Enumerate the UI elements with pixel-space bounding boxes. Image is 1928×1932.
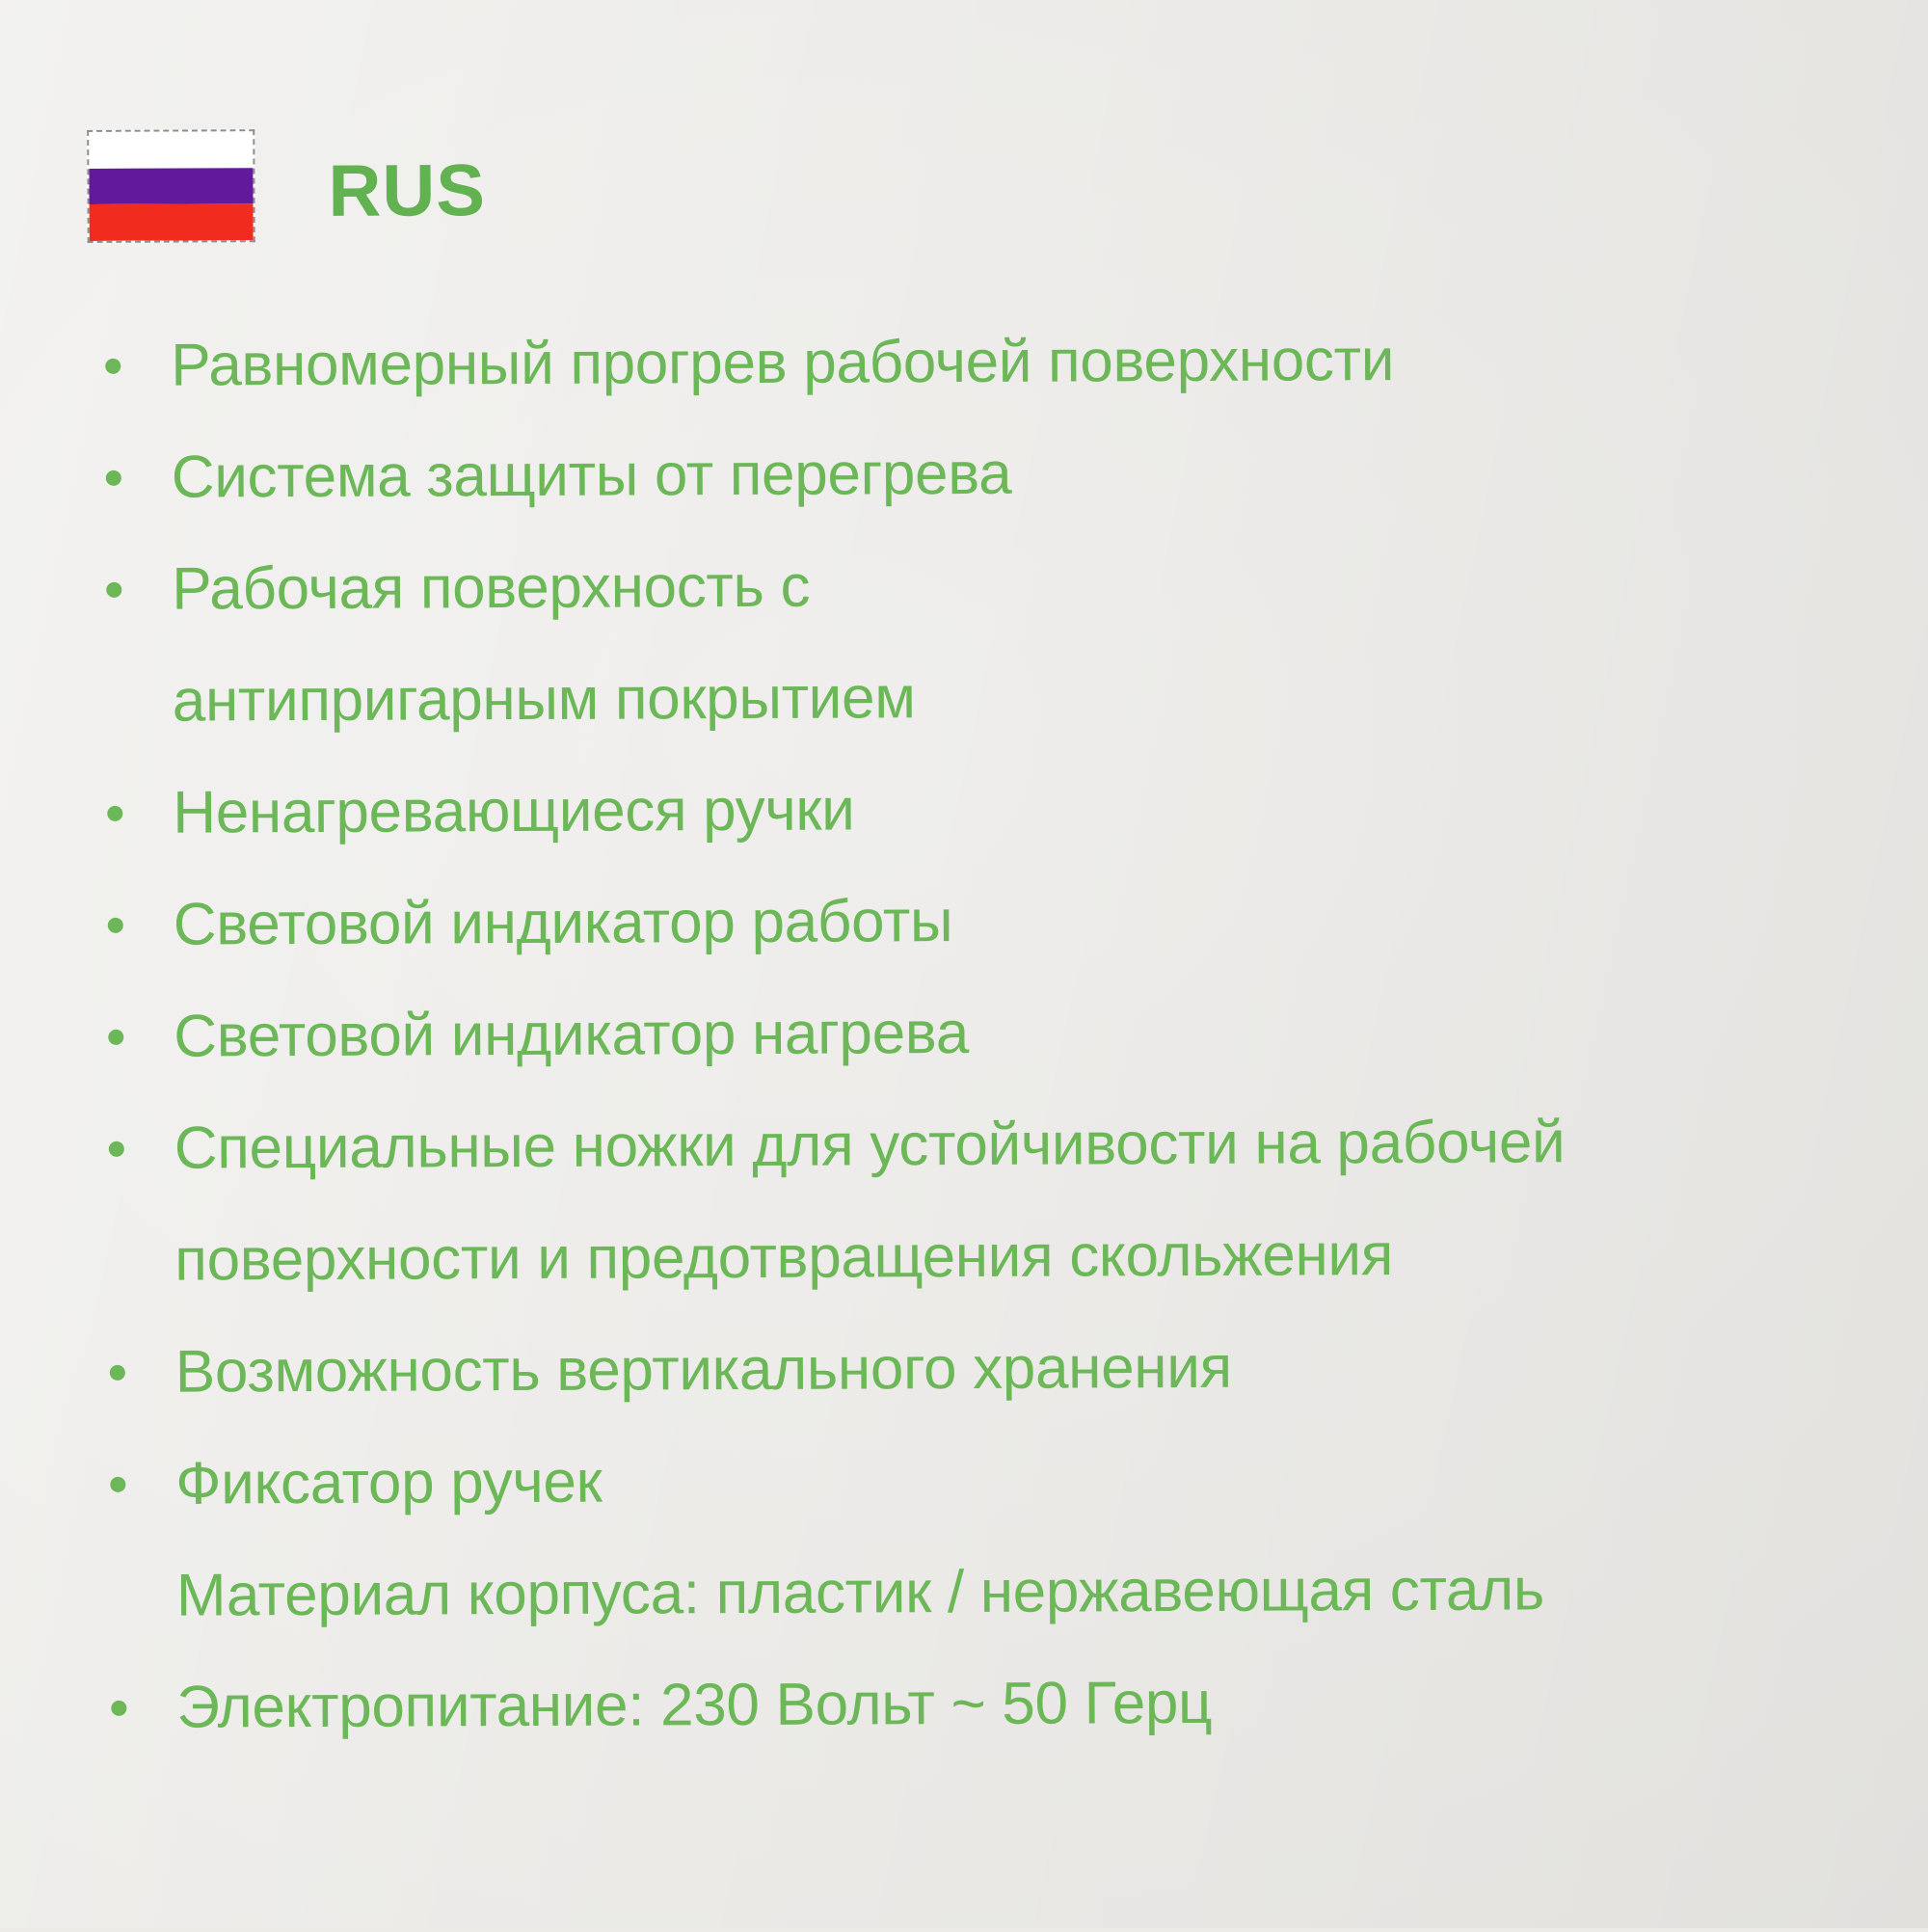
feature-text: Рабочая поверхность с антипригарным покр…: [172, 529, 1117, 757]
flag-band-white: [89, 131, 253, 168]
feature-text: Электропитание: 230 Вольт ~ 50 Герц: [176, 1645, 1834, 1764]
bullet-icon: [105, 359, 120, 374]
feature-list-item: Система защиты от перегрева: [94, 415, 1830, 534]
feature-text: Материал корпуса: пластик / нержавеющая …: [176, 1533, 1834, 1652]
feature-list-item: Фиксатор ручек: [98, 1421, 1834, 1541]
feature-list-item: Рабочая поверхность с антипригарным покр…: [94, 526, 1831, 758]
feature-text: Фиксатор ручек: [175, 1421, 1834, 1541]
language-code-label: RUS: [328, 154, 486, 228]
feature-list-item: Ненагревающиеся ручки: [95, 750, 1831, 870]
flag-band-red: [90, 203, 254, 240]
feature-text: Равномерный прогрев рабочей поверхности: [171, 303, 1829, 422]
feature-list-item: Возможность вертикального хранения: [98, 1309, 1834, 1429]
feature-text: Ненагревающиеся ручки: [173, 750, 1831, 870]
feature-text: Специальные ножки для устойчивости на ра…: [174, 1086, 1805, 1316]
bullet-icon: [108, 1030, 123, 1045]
feature-list-item: Равномерный прогрев рабочей поверхности: [94, 303, 1829, 422]
feature-list: Равномерный прогрев рабочей поверхности …: [94, 303, 1835, 1764]
bullet-icon: [107, 806, 122, 821]
feature-text: Световой индикатор работы: [174, 862, 1832, 981]
product-feature-panel: RUS Равномерный прогрев рабочей поверхно…: [0, 0, 1928, 1932]
feature-text: Система защиты от перегрева: [172, 415, 1830, 534]
feature-list-item: Электропитание: 230 Вольт ~ 50 Герц: [99, 1645, 1834, 1764]
bullet-icon: [110, 1477, 125, 1492]
language-header: RUS: [87, 128, 486, 243]
bullet-icon: [111, 1701, 126, 1716]
bullet-icon: [109, 1141, 124, 1157]
feature-list-item: Световой индикатор нагрева: [96, 974, 1832, 1093]
flag-band-blue: [89, 168, 253, 204]
feature-text: Световой индикатор нагрева: [174, 974, 1832, 1093]
feature-text: Возможность вертикального хранения: [175, 1309, 1834, 1429]
bullet-icon: [108, 918, 123, 933]
feature-list-item: Световой индикатор работы: [96, 862, 1832, 981]
russian-flag-icon: [87, 129, 255, 243]
bullet-icon: [106, 470, 121, 486]
bullet-icon: [110, 1365, 125, 1381]
feature-list-item: Специальные ножки для устойчивости на ра…: [97, 1086, 1834, 1317]
bullet-icon: [106, 582, 121, 598]
feature-list-item: Материал корпуса: пластик / нержавеющая …: [99, 1533, 1834, 1652]
